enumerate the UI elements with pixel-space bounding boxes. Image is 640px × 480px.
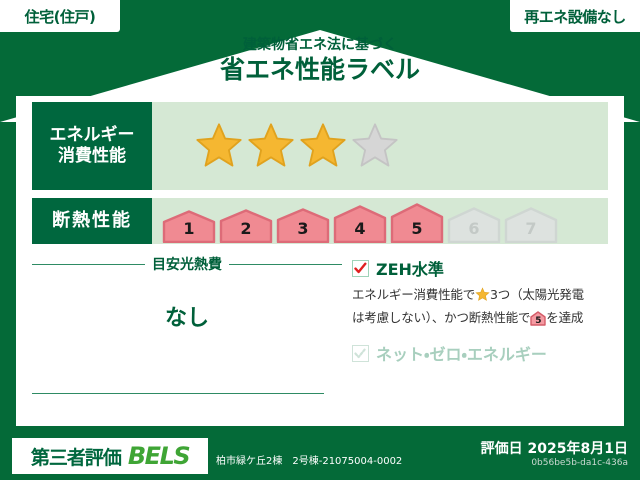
house-level-filled: 5 xyxy=(390,203,444,243)
house-level-filled: 1 xyxy=(162,210,216,243)
bels-logo: 第三者評価 BELS xyxy=(12,438,208,474)
zeh-description-star-count: 3つ（太陽光発電 xyxy=(490,287,584,302)
insulation-performance-label: 断熱性能 xyxy=(32,198,152,244)
star-filled-icon xyxy=(298,121,348,171)
house-level-empty: 6 xyxy=(447,207,501,243)
house-level-number: 7 xyxy=(504,219,558,238)
label-hash-id: 0b56be5b-da1c-436a xyxy=(531,458,628,468)
zeh-standard-row: ZEH水準 xyxy=(352,256,614,280)
energy-performance-label: エネルギー 消費性能 xyxy=(32,102,152,190)
star-filled-icon xyxy=(246,121,296,171)
utility-cost-heading: 目安光熱費 xyxy=(32,254,342,274)
energy-performance-label-line1: エネルギー xyxy=(50,125,135,146)
star-filled-icon xyxy=(194,121,244,171)
footer-bar: 第三者評価 BELS 柏市緑ケ丘2棟 2号棟-21075004-0002 評価日… xyxy=(0,432,640,480)
badge-housing-type: 住宅(住戸) xyxy=(0,0,120,32)
evaluation-date: 評価日 2025年8月1日 xyxy=(481,438,628,458)
house-level-number: 5 xyxy=(390,219,444,238)
star-empty-icon xyxy=(350,121,400,171)
inline-house-level: 5 xyxy=(530,311,546,331)
zeh-standard-label: ZEH水準 xyxy=(376,256,444,280)
utility-cost-underline xyxy=(32,393,324,394)
inline-house-icon: 5 xyxy=(530,311,546,332)
house-level-filled: 3 xyxy=(276,208,330,243)
house-level-filled: 4 xyxy=(333,205,387,243)
zeh-description: エネルギー消費性能で 3つ（太陽光発電 は考慮しない）、かつ断熱性能で 5 を達… xyxy=(352,285,614,332)
star-rating xyxy=(194,121,400,171)
insulation-performance-label-text: 断熱性能 xyxy=(52,210,132,233)
check-icon xyxy=(354,262,367,275)
divider-left xyxy=(32,264,145,265)
zeh-block: ZEH水準 エネルギー消費性能で 3つ（太陽光発電 は考慮しない）、かつ断熱性能… xyxy=(352,256,614,365)
insulation-performance-row: 断熱性能 1234567 xyxy=(32,198,608,244)
zeh-description-part1: エネルギー消費性能で xyxy=(352,287,475,302)
utility-cost-block: 目安光熱費 なし xyxy=(32,254,342,332)
house-level-number: 4 xyxy=(333,219,387,238)
badge-renewable-equipment: 再エネ設備なし xyxy=(510,0,640,32)
divider-right xyxy=(229,264,342,265)
bels-logo-jp: 第三者評価 xyxy=(31,443,121,470)
bels-logo-en: BELS xyxy=(128,442,189,470)
house-level-number: 1 xyxy=(162,219,216,238)
insulation-performance-value-area: 1234567 xyxy=(152,198,608,244)
zeh-description-part2: は考慮しない）、かつ断熱性能で xyxy=(352,310,530,325)
checkbox-net-zero-energy[interactable] xyxy=(352,345,369,362)
house-level-empty: 7 xyxy=(504,207,558,243)
net-zero-energy-row: ネット・ゼロ・エネルギー xyxy=(352,341,614,365)
utility-cost-title: 目安光熱費 xyxy=(152,254,222,274)
energy-performance-value-area xyxy=(152,102,608,190)
energy-performance-label-line2: 消費性能 xyxy=(58,146,126,167)
house-level-number: 6 xyxy=(447,219,501,238)
checkbox-zeh-standard[interactable] xyxy=(352,260,369,277)
energy-performance-row: エネルギー 消費性能 xyxy=(32,102,608,190)
label-body-panel: エネルギー 消費性能 断熱性能 1234567 目安光熱費 なし xyxy=(16,96,624,426)
badge-renewable-equipment-label: 再エネ設備なし xyxy=(524,6,626,27)
check-icon-disabled xyxy=(354,347,367,360)
property-id: 柏市緑ケ丘2棟 2号棟-21075004-0002 xyxy=(216,452,402,467)
net-zero-energy-label: ネット・ゼロ・エネルギー xyxy=(376,341,547,365)
house-level-number: 2 xyxy=(219,219,273,238)
badge-housing-type-label: 住宅(住戸) xyxy=(25,6,96,27)
utility-cost-value: なし xyxy=(32,300,342,332)
house-rating: 1234567 xyxy=(162,199,558,243)
inline-star-icon xyxy=(475,287,490,308)
zeh-description-part3: を達成 xyxy=(546,310,583,325)
house-level-filled: 2 xyxy=(219,209,273,243)
house-level-number: 3 xyxy=(276,219,330,238)
